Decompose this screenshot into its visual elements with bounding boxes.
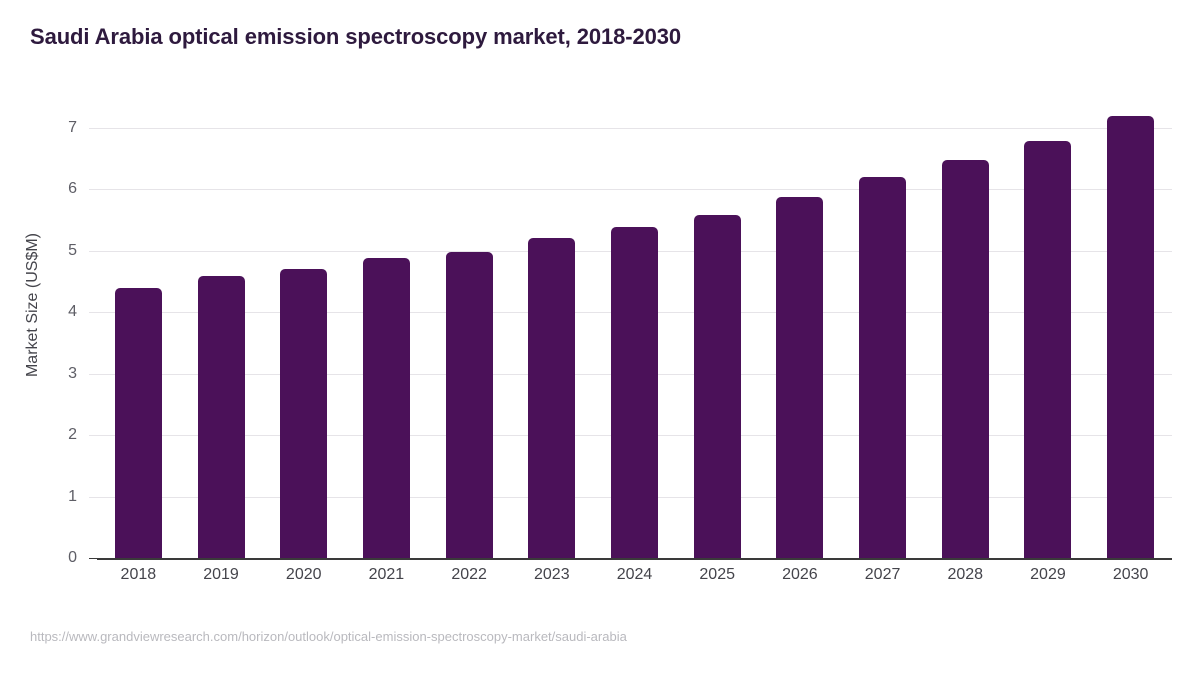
- y-axis-tick-mark: [89, 497, 97, 498]
- bar-slot: [1089, 100, 1172, 558]
- y-axis-tick-mark: [89, 128, 97, 129]
- bar-2030[interactable]: [1107, 116, 1154, 558]
- bar-2026[interactable]: [776, 197, 823, 558]
- bar-slot: [428, 100, 511, 558]
- bar-2028[interactable]: [942, 160, 989, 558]
- x-axis-tick-label-2021: 2021: [345, 566, 428, 584]
- bar-2024[interactable]: [611, 227, 658, 558]
- bar-slot: [676, 100, 759, 558]
- x-axis-tick-label-2018: 2018: [97, 566, 180, 584]
- x-axis-tick-label-2030: 2030: [1089, 566, 1172, 584]
- bar-slot: [841, 100, 924, 558]
- bar-slot: [262, 100, 345, 558]
- bar-2023[interactable]: [528, 238, 575, 558]
- y-axis-tick-label: 6: [17, 180, 77, 198]
- bar-slot: [1007, 100, 1090, 558]
- bar-slot: [97, 100, 180, 558]
- y-axis-tick-label: 1: [17, 488, 77, 506]
- y-axis-tick-mark: [89, 435, 97, 436]
- source-url[interactable]: https://www.grandviewresearch.com/horizo…: [30, 629, 627, 644]
- bar-slot: [593, 100, 676, 558]
- x-axis-tick-labels: 2018201920202021202220232024202520262027…: [97, 566, 1172, 596]
- y-axis-tick-mark: [89, 558, 97, 559]
- x-axis-tick-label-2024: 2024: [593, 566, 676, 584]
- y-axis-tick-label: 2: [17, 426, 77, 444]
- bar-2018[interactable]: [115, 288, 162, 558]
- x-axis-tick-label-2023: 2023: [510, 566, 593, 584]
- x-axis-tick-label-2028: 2028: [924, 566, 1007, 584]
- bar-slot: [345, 100, 428, 558]
- x-axis-tick-label-2020: 2020: [262, 566, 345, 584]
- bar-2020[interactable]: [280, 269, 327, 558]
- x-axis-tick-label-2025: 2025: [676, 566, 759, 584]
- axis-baseline: [97, 558, 1172, 560]
- y-axis-tick-mark: [89, 189, 97, 190]
- chart-card: Saudi Arabia optical emission spectrosco…: [0, 0, 1200, 675]
- x-axis-tick-label-2022: 2022: [428, 566, 511, 584]
- y-axis-tick-mark: [89, 251, 97, 252]
- bar-2019[interactable]: [198, 276, 245, 558]
- bar-slot: [759, 100, 842, 558]
- bar-slot: [180, 100, 263, 558]
- y-axis-tick-label: 7: [17, 119, 77, 137]
- y-axis-tick-label: 0: [17, 549, 77, 567]
- x-axis-tick-label-2019: 2019: [180, 566, 263, 584]
- bar-2027[interactable]: [859, 177, 906, 558]
- bar-2025[interactable]: [694, 215, 741, 558]
- y-axis-tick-label: 3: [17, 365, 77, 383]
- bar-2022[interactable]: [446, 252, 493, 558]
- x-axis-tick-label-2027: 2027: [841, 566, 924, 584]
- plot-area: [97, 100, 1172, 558]
- y-axis-tick-label: 4: [17, 303, 77, 321]
- y-axis-tick-mark: [89, 312, 97, 313]
- page-title: Saudi Arabia optical emission spectrosco…: [30, 24, 681, 50]
- y-axis-tick-labels: 01234567: [17, 100, 77, 558]
- x-axis-tick-label-2026: 2026: [759, 566, 842, 584]
- bar-slot: [510, 100, 593, 558]
- y-axis-tick-label: 5: [17, 242, 77, 260]
- bar-2029[interactable]: [1024, 141, 1071, 558]
- y-axis-tick-mark: [89, 374, 97, 375]
- bar-slot: [924, 100, 1007, 558]
- x-axis-tick-label-2029: 2029: [1007, 566, 1090, 584]
- bar-2021[interactable]: [363, 258, 410, 558]
